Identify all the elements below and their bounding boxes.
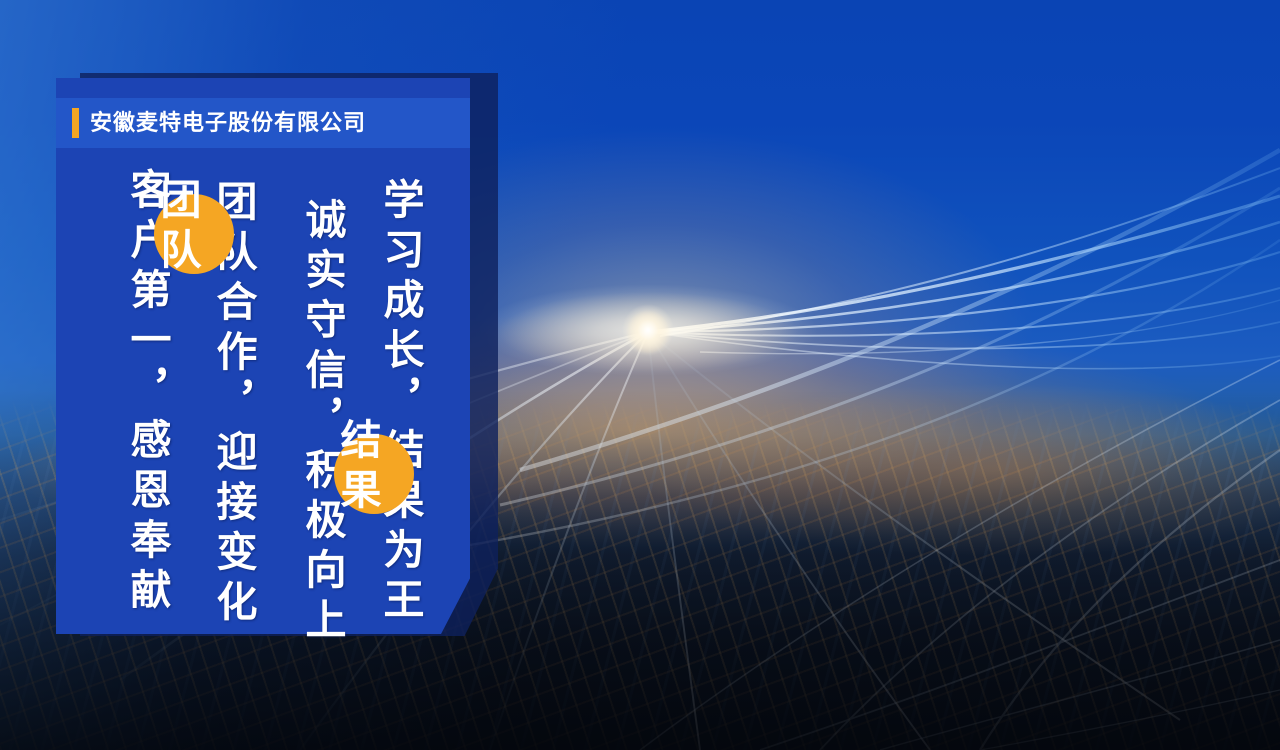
slogan-group: 学习成长，结果为王 诚实守信，积极向上 团队合作，迎接变化 客户第一，感恩奉献 [56,150,470,620]
badge-circle-team [154,194,234,274]
company-name-title: 安徽麦特电子股份有限公司 [90,106,460,140]
slogan-column-learning: 学习成长，结果为王 [379,178,420,628]
badge-circle-result [334,434,414,514]
slogan-text-learning-post: 为王 [377,528,423,628]
poster-canvas: 安徽麦特电子股份有限公司 学习成长，结果为王 诚实守信，积极向上 团队合作，迎接… [0,0,1280,750]
slogan-text-learning-pre: 学习成长， [377,178,423,428]
slogan-text-teamwork-post: 合作，迎接变化 [210,280,256,630]
accent-bar-icon [72,108,79,138]
slogan-column-honesty: 诚实守信，积极向上 [301,198,342,648]
